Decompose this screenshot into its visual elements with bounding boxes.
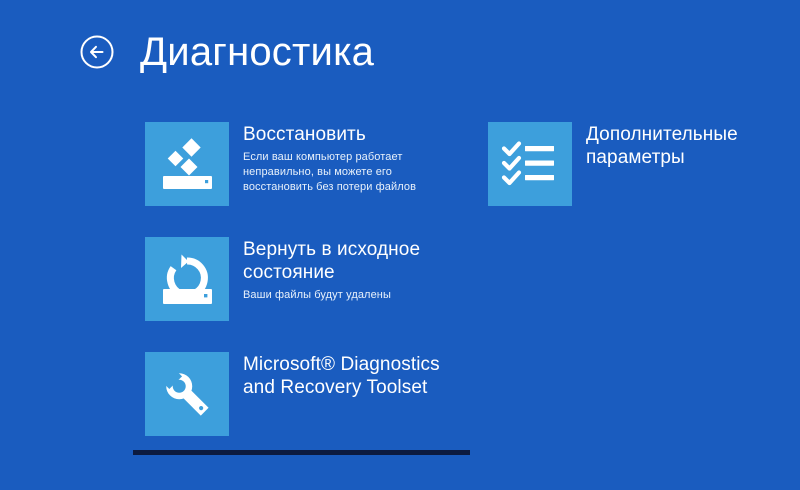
tile-description: Ваши файлы будут удалены [243,288,439,303]
reset-drive-icon [145,237,229,321]
tile-description: Если ваш компьютер работает неправильно,… [243,150,439,195]
tile-reset-pc[interactable]: Вернуть в исходное состояние Ваши файлы … [145,237,475,321]
tile-advanced-options[interactable]: Дополнительные параметры [488,122,788,206]
tile-column-left: Восстановить Если ваш компьютер работает… [145,122,475,467]
page-header: Диагностика [78,30,374,74]
wrench-icon [145,352,229,436]
tile-title: Вернуть в исходное состояние [243,238,453,284]
page-title: Диагностика [140,30,374,74]
refresh-drive-icon [145,122,229,206]
tile-advanced-options-text: Дополнительные параметры [572,122,786,169]
tile-column-right: Дополнительные параметры [488,122,788,237]
checklist-icon [488,122,572,206]
tile-title: Восстановить [243,123,439,146]
bottom-divider [133,450,470,455]
recovery-environment-screen: Диагностика Восстановить Если ваш компью… [0,0,800,490]
tile-reset-pc-text: Вернуть в исходное состояние Ваши файлы … [229,237,453,303]
tile-dart[interactable]: Microsoft® Diagnostics and Recovery Tool… [145,352,475,436]
tile-title: Microsoft® Diagnostics and Recovery Tool… [243,353,453,399]
tile-refresh-pc[interactable]: Восстановить Если ваш компьютер работает… [145,122,475,206]
tile-title: Дополнительные параметры [586,123,786,169]
tile-dart-text: Microsoft® Diagnostics and Recovery Tool… [229,352,453,399]
back-arrow-circle-icon[interactable] [78,33,116,71]
tile-refresh-pc-text: Восстановить Если ваш компьютер работает… [229,122,439,195]
